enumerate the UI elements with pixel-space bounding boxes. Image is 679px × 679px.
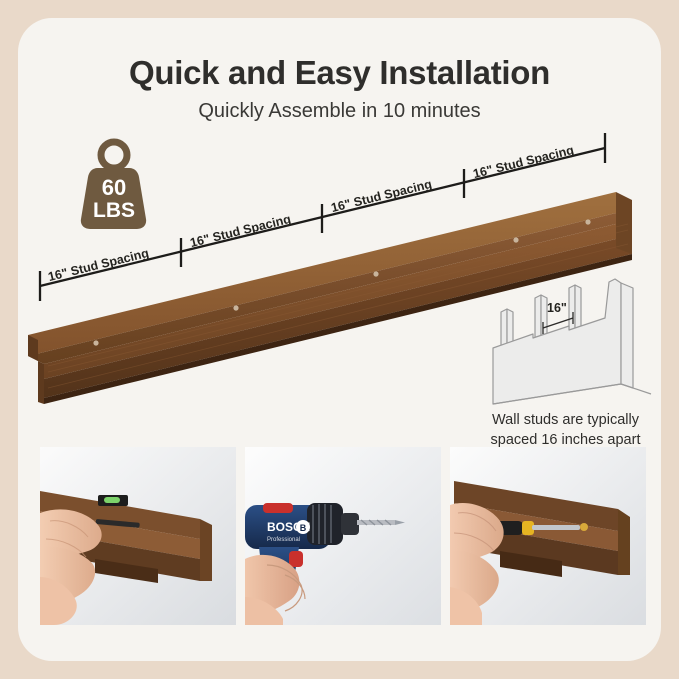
wall-stud-diagram: 16"	[473, 276, 661, 406]
bubble-level-icon	[98, 495, 128, 506]
svg-text:B: B	[300, 523, 307, 533]
page-title: Quick and Easy Installation	[18, 54, 661, 92]
photo-screwdriver-shelf	[450, 447, 646, 625]
stud-caption: Wall studs are typically spaced 16 inche…	[458, 410, 661, 450]
photo-level-shelf	[40, 447, 236, 625]
content-card: Quick and Easy Installation Quickly Asse…	[18, 18, 661, 661]
photo-strip: BOSCH B Professional	[40, 447, 660, 627]
stud-caption-line2: spaced 16 inches apart	[491, 432, 641, 448]
drill-bit	[357, 520, 405, 525]
wall-slab-face	[493, 279, 621, 404]
stud-dimension-label: 16"	[547, 301, 567, 315]
wall-slab-side	[621, 283, 633, 388]
photo-drill-wall: BOSCH B Professional	[245, 447, 441, 625]
infographic-root: Quick and Easy Installation Quickly Asse…	[0, 0, 679, 679]
drill-brand-sub: Professional	[267, 537, 300, 543]
stud-caption-line1: Wall studs are typically	[492, 412, 639, 428]
